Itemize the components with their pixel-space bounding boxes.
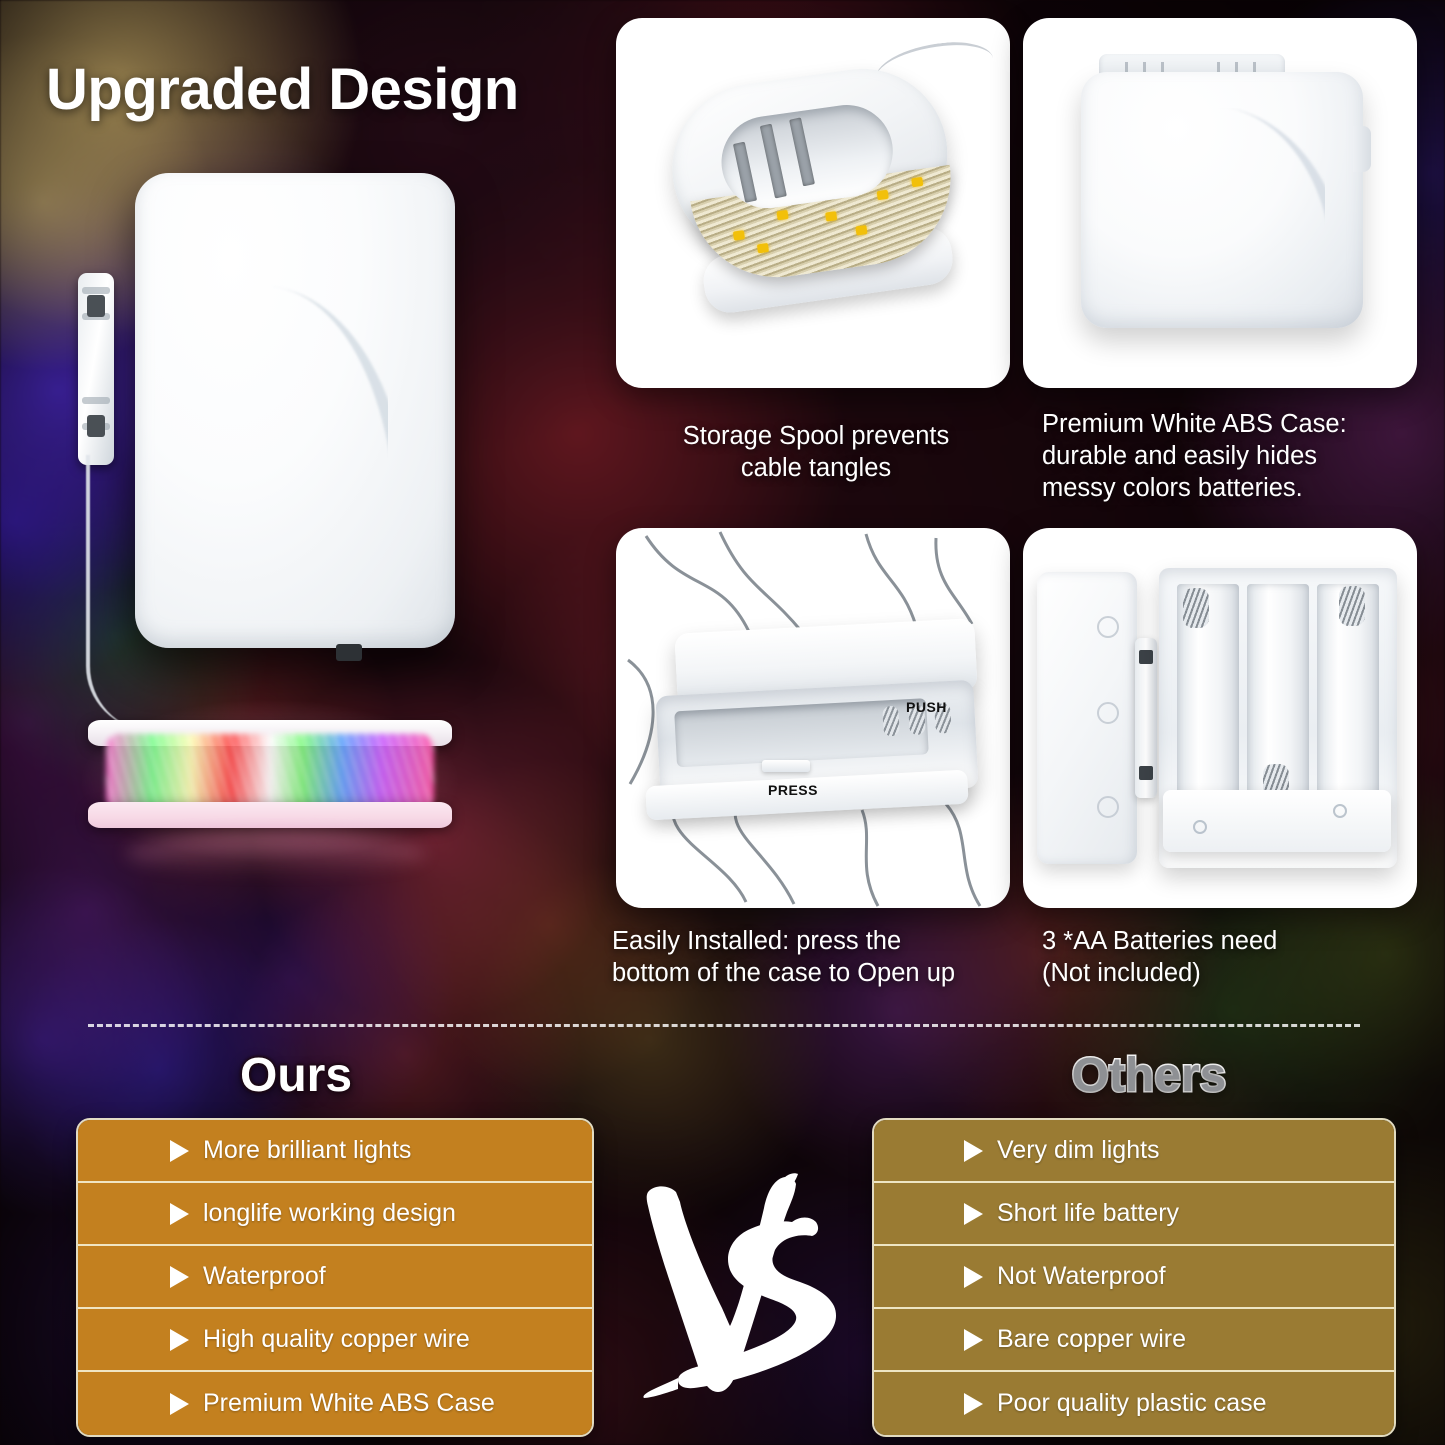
feature-photo-easy-install: PUSH PRESS <box>616 528 1010 908</box>
triangle-bullet-icon <box>170 1203 189 1225</box>
spool-multicolor-leds <box>106 734 434 812</box>
versus-icon <box>636 1172 846 1398</box>
comparison-heading-others: Others <box>853 1048 1445 1103</box>
caption-easy-install: Easily Installed: press the bottom of th… <box>612 925 1032 989</box>
photo-spool <box>616 18 1010 388</box>
table-row: Short life battery <box>874 1183 1394 1246</box>
feature-photo-batteries <box>1023 528 1417 908</box>
comparison-heading-ours: Ours <box>0 1048 592 1103</box>
battery-spring <box>1339 586 1365 626</box>
caption-abs-case: Premium White ABS Case: durable and easi… <box>1042 408 1434 504</box>
section-divider <box>88 1024 1360 1027</box>
hero-switch-clip <box>78 273 114 465</box>
triangle-bullet-icon <box>964 1140 983 1162</box>
triangle-bullet-icon <box>170 1393 189 1415</box>
spool-disc-bottom <box>88 802 452 828</box>
ours-feature-label: More brilliant lights <box>203 1136 411 1165</box>
table-row: longlife working design <box>78 1183 592 1246</box>
ours-feature-label: Waterproof <box>203 1262 326 1291</box>
hero-led-spool <box>80 710 460 840</box>
comparison-table-others: Very dim lights Short life battery Not W… <box>872 1118 1396 1437</box>
case-side-tab <box>1353 126 1371 172</box>
ours-feature-label: High quality copper wire <box>203 1325 470 1354</box>
others-feature-label: Bare copper wire <box>997 1325 1186 1354</box>
hero-cable <box>86 455 150 730</box>
battery-lid <box>1037 572 1137 864</box>
table-row: Very dim lights <box>874 1120 1394 1183</box>
battery-hinge <box>1135 638 1157 798</box>
feature-photo-storage-spool <box>616 18 1010 388</box>
triangle-bullet-icon <box>964 1329 983 1351</box>
ours-feature-label: longlife working design <box>203 1199 456 1228</box>
table-row: More brilliant lights <box>78 1120 592 1183</box>
table-row: Not Waterproof <box>874 1246 1394 1309</box>
comparison-table-ours: More brilliant lights longlife working d… <box>76 1118 594 1437</box>
caption-batteries: 3 *AA Batteries need (Not included) <box>1042 925 1434 989</box>
page-title: Upgraded Design <box>46 56 519 123</box>
photo-closed-case <box>1023 18 1417 388</box>
battery-spring <box>882 706 900 737</box>
triangle-bullet-icon <box>964 1393 983 1415</box>
press-label: PRESS <box>768 782 818 798</box>
press-tab <box>762 760 810 772</box>
table-row: High quality copper wire <box>78 1309 592 1372</box>
caption-storage-spool: Storage Spool prevents cable tangles <box>616 420 1016 484</box>
others-feature-label: Poor quality plastic case <box>997 1389 1267 1418</box>
triangle-bullet-icon <box>170 1140 189 1162</box>
spool-body <box>648 46 980 335</box>
table-row: Poor quality plastic case <box>874 1372 1394 1435</box>
table-row: Waterproof <box>78 1246 592 1309</box>
triangle-bullet-icon <box>170 1266 189 1288</box>
others-feature-label: Short life battery <box>997 1199 1179 1228</box>
triangle-bullet-icon <box>170 1329 189 1351</box>
ours-feature-label: Premium White ABS Case <box>203 1389 495 1418</box>
photo-battery-compartment <box>1023 528 1417 908</box>
case-swoosh <box>1135 108 1325 278</box>
table-row: Premium White ABS Case <box>78 1372 592 1435</box>
spool-reflection <box>126 832 426 876</box>
feature-photo-abs-case <box>1023 18 1417 388</box>
hero-battery-case <box>135 173 455 648</box>
others-feature-label: Not Waterproof <box>997 1262 1166 1291</box>
table-row: Bare copper wire <box>874 1309 1394 1372</box>
product-infographic: Upgraded Design <box>0 0 1445 1445</box>
battery-foot <box>1163 790 1391 852</box>
battery-spring <box>1183 588 1209 628</box>
push-label: PUSH <box>906 699 947 715</box>
hero-power-button <box>336 644 362 661</box>
hero-product-image <box>60 165 500 885</box>
triangle-bullet-icon <box>964 1266 983 1288</box>
triangle-bullet-icon <box>964 1203 983 1225</box>
others-feature-label: Very dim lights <box>997 1136 1160 1165</box>
photo-open-case: PUSH PRESS <box>616 528 1010 908</box>
